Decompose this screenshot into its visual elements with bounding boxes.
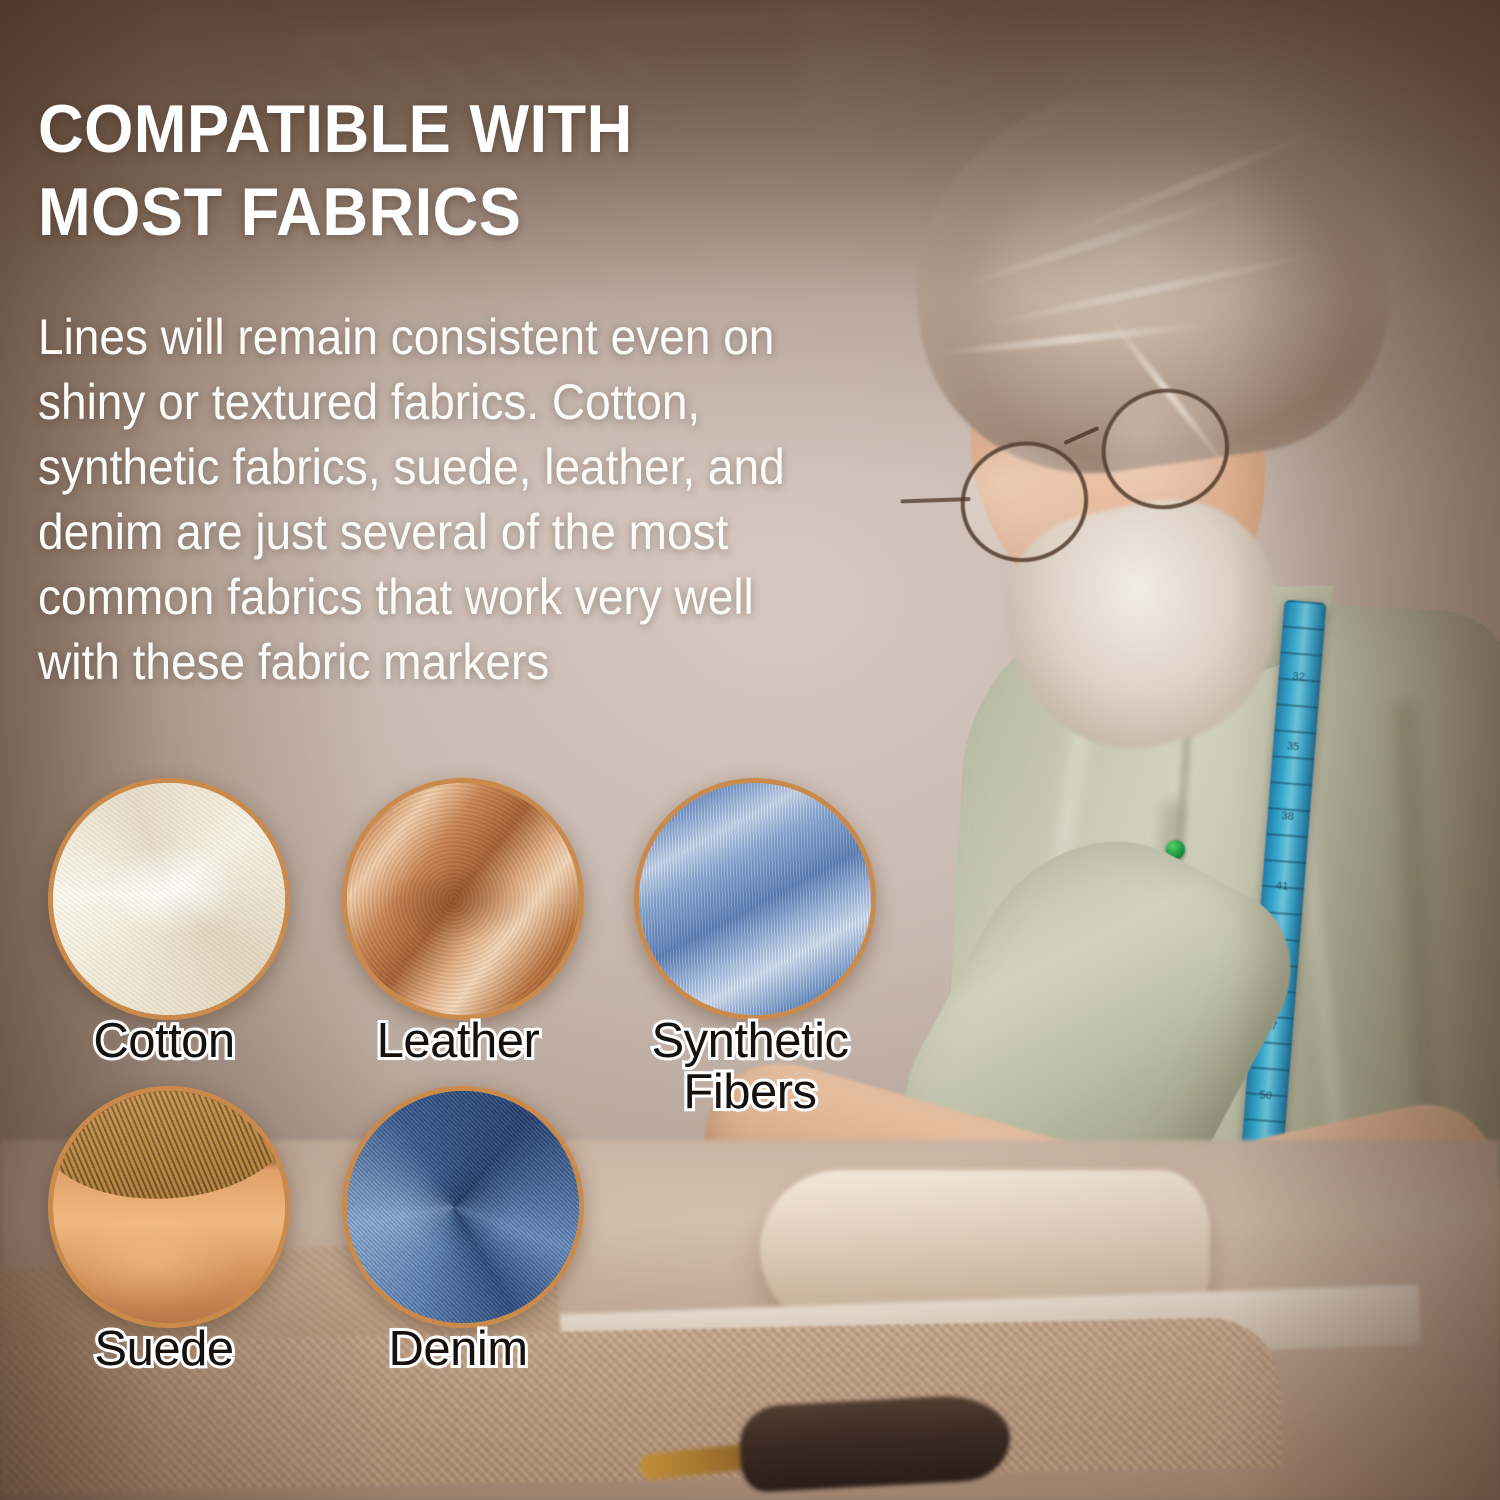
headline-line-1: COMPATIBLE WITH — [38, 88, 856, 171]
swatch-label-synthetic: Synthetic Fibers — [630, 1016, 870, 1118]
description-paragraph: Lines will remain consistent even on shi… — [38, 305, 838, 695]
cotton-fabric-texture — [53, 783, 285, 1015]
swatch-circle-suede — [48, 1086, 290, 1328]
denim-fabric-texture — [347, 1091, 579, 1323]
swatch-circle-synthetic — [634, 778, 876, 1020]
page-title: COMPATIBLE WITH MOST FABRICS — [38, 88, 856, 254]
swatch-circle-leather — [342, 778, 584, 1020]
leather-fabric-texture — [347, 783, 579, 1015]
headline-line-2: MOST FABRICS — [38, 171, 856, 254]
swatch-label-leather: Leather — [320, 1016, 596, 1067]
swatch-label-suede: Suede — [26, 1324, 302, 1375]
swatch-label-cotton: Cotton — [26, 1016, 302, 1067]
swatch-circle-cotton — [48, 778, 290, 1020]
swatch-circle-denim — [342, 1086, 584, 1328]
product-feature-image: 32 35 38 41 44 47 50 53 56 59 62 CO — [0, 0, 1500, 1500]
suede-fabric-texture — [53, 1091, 285, 1323]
swatch-label-denim: Denim — [320, 1324, 596, 1375]
synthetic-fabric-texture — [639, 783, 871, 1015]
